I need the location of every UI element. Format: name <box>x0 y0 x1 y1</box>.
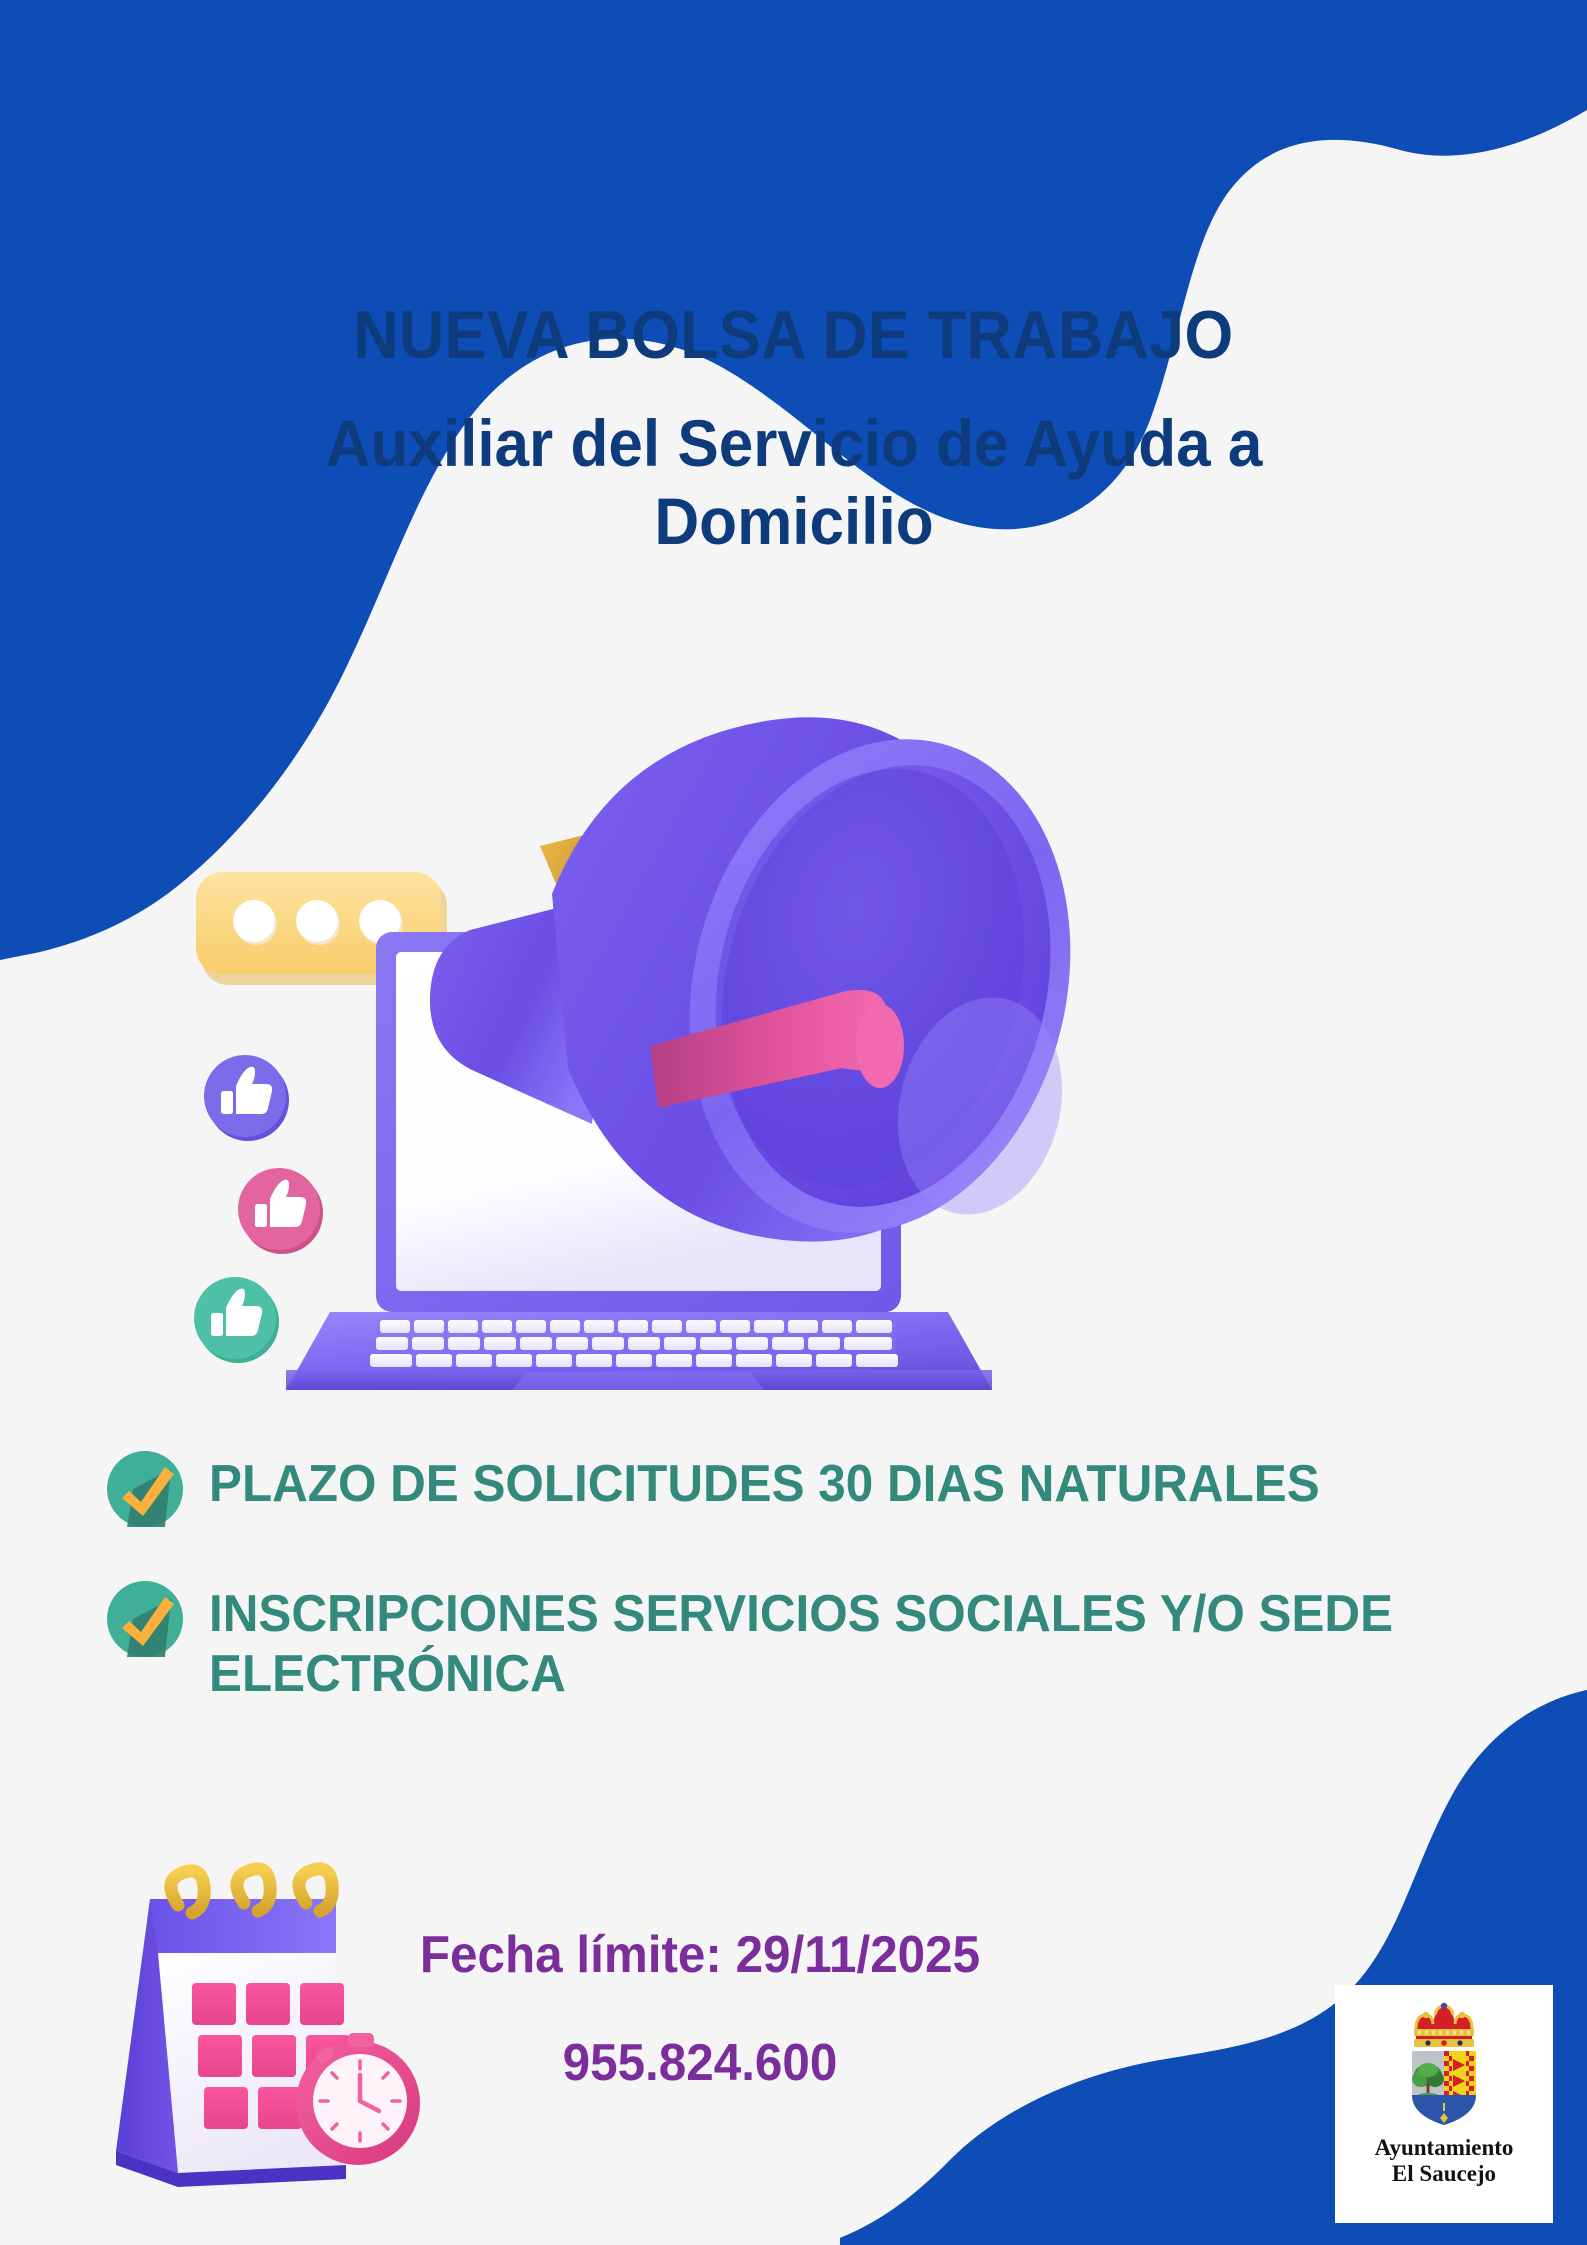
page-title: NUEVA BOLSA DE TRABAJO <box>63 300 1523 371</box>
shield-icon <box>1412 2051 1476 2125</box>
list-item: INSCRIPCIONES SERVICIOS SOCIALES Y/O SED… <box>105 1585 1485 1705</box>
list-item: PLAZO DE SOLICITUDES 30 DIAS NATURALES <box>105 1455 1485 1529</box>
logo-caption-line2: El Saucejo <box>1375 2161 1514 2187</box>
page-subtitle: Auxiliar del Servicio de Ayuda a Domicil… <box>239 405 1348 561</box>
poster: NUEVA BOLSA DE TRABAJO Auxiliar del Serv… <box>0 0 1587 2245</box>
deadline-text: Fecha límite: 29/11/2025 <box>349 1925 1052 1985</box>
ayuntamiento-logo: Ayuntamiento El Saucejo <box>1335 1985 1553 2223</box>
check-circle-icon <box>105 1579 185 1659</box>
check-circle-icon <box>105 1449 185 1529</box>
thumbs-up-teal-icon <box>194 1277 279 1363</box>
heading-block: NUEVA BOLSA DE TRABAJO Auxiliar del Serv… <box>0 300 1587 561</box>
list-item-label: INSCRIPCIONES SERVICIOS SOCIALES Y/O SED… <box>209 1585 1421 1705</box>
crown-icon <box>1414 2003 1474 2047</box>
footer-text-block: Fecha límite: 29/11/2025 955.824.600 <box>330 1925 1070 2093</box>
phone-number: 955.824.600 <box>349 2033 1052 2093</box>
laptop-megaphone-illustration <box>180 600 1270 1390</box>
laptop-keyboard <box>370 1319 898 1367</box>
laptop-trackpad <box>512 1372 764 1390</box>
logo-caption-line1: Ayuntamiento <box>1375 2135 1514 2161</box>
bullet-list: PLAZO DE SOLICITUDES 30 DIAS NATURALES I… <box>105 1455 1485 1761</box>
thumbs-up-purple-icon <box>204 1055 289 1141</box>
list-item-label: PLAZO DE SOLICITUDES 30 DIAS NATURALES <box>209 1455 1320 1515</box>
thumbs-up-pink-icon <box>238 1168 323 1254</box>
logo-caption: Ayuntamiento El Saucejo <box>1375 2135 1514 2187</box>
coat-of-arms-icon <box>1390 1999 1498 2131</box>
